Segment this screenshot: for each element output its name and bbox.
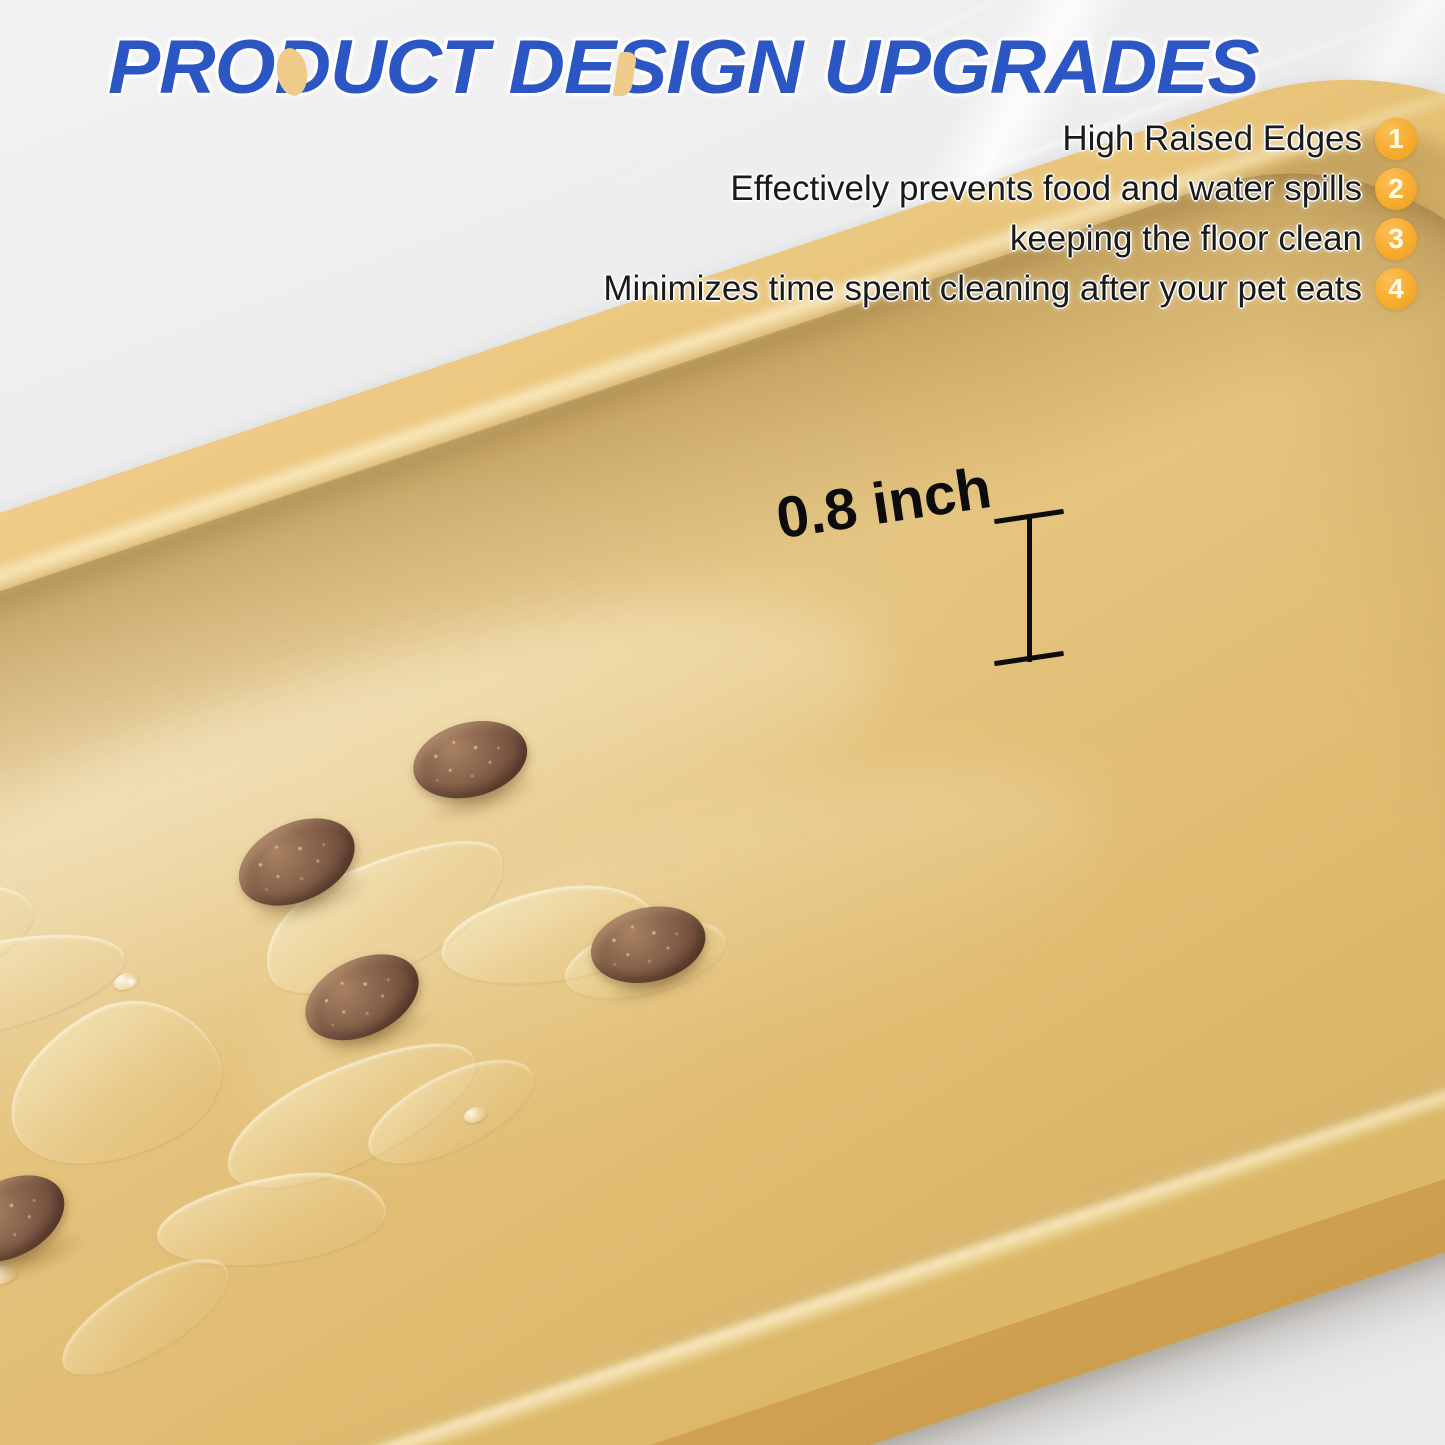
page-title: PRODUCT DESIGN UPGRADES — [108, 24, 1445, 111]
feature-text: High Raised Edges — [1062, 119, 1362, 159]
kibble-shadow — [310, 996, 442, 1072]
water-puddle — [0, 915, 134, 1055]
kibble-piece — [405, 709, 536, 810]
i-beam-stem — [1027, 516, 1032, 662]
kibble-piece — [0, 1158, 79, 1280]
kibble-shadow — [244, 861, 380, 940]
feature-number-badge: 4 — [1375, 268, 1417, 310]
tray-floor-sheen — [205, 690, 1141, 1222]
product-image-canvas: PRODUCT DESIGN UPGRADES High Raised Edge… — [0, 0, 1445, 1445]
water-puddle — [557, 906, 734, 1013]
water-droplet — [0, 1261, 20, 1288]
list-item: Effectively prevents food and water spil… — [730, 168, 1417, 210]
feature-number-badge: 1 — [1375, 118, 1417, 160]
kibble-shadow — [420, 760, 548, 835]
kibble-piece — [292, 937, 433, 1057]
feature-list: High Raised Edges 1 Effectively prevents… — [603, 118, 1417, 310]
list-item: keeping the floor clean 3 — [1010, 218, 1417, 260]
water-droplet — [111, 970, 141, 993]
kibble-piece — [584, 896, 713, 993]
feature-text: Minimizes time spent cleaning after your… — [603, 269, 1362, 309]
water-puddle — [354, 1039, 548, 1186]
water-puddle — [244, 812, 526, 1020]
list-item: Minimizes time spent cleaning after your… — [603, 268, 1417, 310]
water-puddle — [434, 871, 662, 1001]
water-puddle — [0, 969, 243, 1203]
water-puddle — [0, 859, 49, 1062]
feature-text: Effectively prevents food and water spil… — [730, 169, 1362, 209]
dimension-i-beam-icon — [994, 504, 1064, 664]
list-item: High Raised Edges 1 — [1062, 118, 1417, 160]
water-droplet — [461, 1104, 489, 1126]
water-sparkle — [129, 979, 134, 984]
water-puddle — [151, 1161, 391, 1280]
feature-number-badge: 3 — [1375, 218, 1417, 260]
feature-text: keeping the floor clean — [1010, 219, 1362, 259]
kibble-piece — [225, 801, 368, 923]
kibble-shadow — [597, 943, 725, 1018]
feature-number-badge: 2 — [1375, 168, 1417, 210]
water-puddle — [209, 1017, 495, 1213]
water-puddle — [46, 1239, 245, 1396]
kibble-shadow — [0, 1218, 94, 1297]
